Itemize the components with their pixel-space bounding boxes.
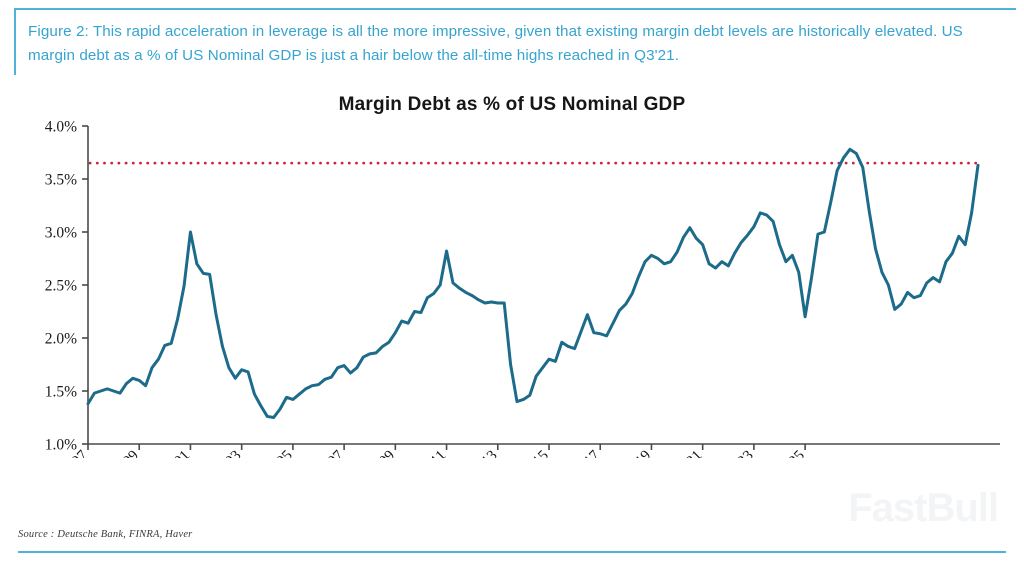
x-tick-label: Jun-17 [563,447,604,458]
chart-title: Margin Debt as % of US Nominal GDP [0,94,1024,116]
y-tick-label: 2.5% [45,278,77,295]
y-tick-label: 3.5% [45,172,77,189]
y-tick-label: 2.0% [45,331,77,348]
footer-divider [18,551,1006,553]
x-axis-ticks: Jun-97Jun-99Jun-01Jun-03Jun-05Jun-07Jun-… [51,444,808,458]
figure-caption-text: Figure 2: This rapid acceleration in lev… [28,20,1010,67]
line-chart-svg: 1.0%1.5%2.0%2.5%3.0%3.5%4.0% Jun-97Jun-9… [0,118,1024,458]
y-tick-label: 3.0% [45,225,77,242]
x-tick-label: Jun-01 [153,448,193,458]
x-tick-label: Jun-99 [102,448,142,458]
x-tick-label: Jun-25 [768,448,808,458]
x-tick-label: Jun-21 [665,448,705,458]
y-tick-label: 1.0% [45,437,77,454]
margin-debt-series-line [88,149,978,417]
fastbull-watermark: FastBull [848,486,998,531]
source-note: Source : Deutsche Bank, FINRA, Haver [18,529,192,540]
x-tick-label: Jun-23 [717,448,757,458]
chart-plot-area: 1.0%1.5%2.0%2.5%3.0%3.5%4.0% Jun-97Jun-9… [0,118,1024,458]
x-tick-label: Jun-05 [256,448,296,458]
x-tick-label: Jun-03 [204,448,244,458]
y-axis-ticks: 1.0%1.5%2.0%2.5%3.0%3.5%4.0% [45,119,88,454]
y-tick-label: 1.5% [45,384,77,401]
x-tick-label: Jun-09 [358,448,398,458]
figure-caption-box: Figure 2: This rapid acceleration in lev… [14,8,1016,75]
x-tick-label: Jun-19 [614,448,654,458]
x-tick-label: Jun-11 [410,448,450,458]
figure-page: Figure 2: This rapid acceleration in lev… [0,0,1024,567]
y-tick-label: 4.0% [45,119,77,136]
x-tick-label: Jun-07 [307,447,348,458]
x-tick-label: Jun-13 [460,448,500,458]
x-tick-label: Jun-15 [512,448,552,458]
